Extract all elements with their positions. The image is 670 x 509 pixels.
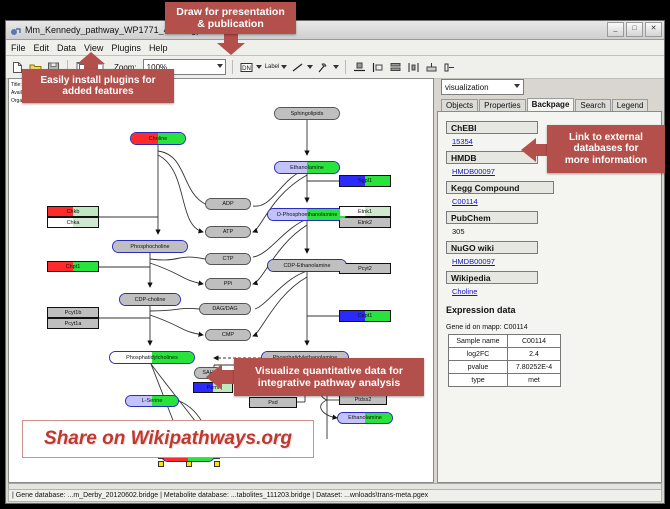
pathway-node-pcyt1b[interactable]: Pcyt1b xyxy=(47,307,99,318)
cell-key: type xyxy=(449,374,508,387)
gene-id-line: Gene id on mapp: C00114 xyxy=(446,324,661,331)
toolbar-separator-2 xyxy=(232,60,233,74)
section-header-wikipedia: Wikipedia xyxy=(446,271,538,284)
pathway-node-cept1[interactable]: Cept1 xyxy=(339,310,391,322)
distribute-icon[interactable] xyxy=(406,60,421,75)
cell-key: log2FC xyxy=(449,348,508,361)
callout-install-plugins: Easily install plugins for added feature… xyxy=(22,69,174,103)
cell-value: 7.80252E-4 xyxy=(508,361,561,374)
callout-visualize-data: Visualize quantitative data for integrat… xyxy=(234,358,424,396)
wikipedia-link[interactable]: Choline xyxy=(452,287,661,296)
selection-handle[interactable] xyxy=(186,461,192,467)
pathway-node-chpt1[interactable]: Chpt1 xyxy=(47,261,99,272)
datanode-icon[interactable]: DN xyxy=(239,60,254,75)
align-left-icon[interactable] xyxy=(370,60,385,75)
pathway-node-chka[interactable]: Chka xyxy=(47,217,99,228)
receptor-icon[interactable] xyxy=(316,60,331,75)
svg-text:DN: DN xyxy=(242,65,251,71)
app-icon xyxy=(10,25,21,36)
status-bar: | Gene database: ...m_Derby_20120602.bri… xyxy=(8,489,662,502)
order-icon[interactable] xyxy=(442,60,457,75)
pathway-node-etnk1[interactable]: Etnk1 xyxy=(339,206,391,217)
node-label: Choline xyxy=(149,136,168,142)
node-label: DAG/DAG xyxy=(212,306,237,312)
visualization-select[interactable]: visualization xyxy=(441,79,524,95)
node-label: CTP xyxy=(223,256,234,262)
minimize-button[interactable]: _ xyxy=(607,22,624,37)
pubchem-value: 305 xyxy=(452,227,661,236)
window-controls: _ □ ✕ xyxy=(607,22,662,37)
pathway-node-ophosphoethanolamine[interactable]: O-Phosphoethanolamine xyxy=(267,208,347,221)
pathway-node-l_serine_left[interactable]: L-Serine xyxy=(125,395,179,407)
tab-search[interactable]: Search xyxy=(575,99,610,111)
cell-key: Sample name xyxy=(449,335,508,348)
label-tool-text: Label xyxy=(265,64,280,70)
table-row: Sample name C00114 xyxy=(449,335,561,348)
callout-external-links: Link to external databases for more info… xyxy=(547,125,665,173)
node-label: PPi xyxy=(224,281,233,287)
kegg-link[interactable]: C00114 xyxy=(452,197,661,206)
chevron-down-icon xyxy=(217,64,223,68)
pathway-node-sphingolipids[interactable]: Sphingolipids xyxy=(274,107,340,120)
chevron-down-icon[interactable] xyxy=(333,65,339,69)
node-label: Ethanolamine xyxy=(290,165,324,171)
pathway-node-cmp[interactable]: CMP xyxy=(205,329,251,341)
node-label: Pcyt1a xyxy=(65,321,82,327)
node-label: Chka xyxy=(67,220,80,226)
pathway-node-chkb[interactable]: Chkb xyxy=(47,206,99,217)
pathway-node-sgpl1[interactable]: Sgpl1 xyxy=(339,175,391,187)
node-label: Cept1 xyxy=(358,313,373,319)
menu-item-help[interactable]: Help xyxy=(149,43,168,53)
menu-item-view[interactable]: View xyxy=(84,43,103,53)
pathway-node-pcyt2[interactable]: Pcyt2 xyxy=(339,263,391,274)
node-label: Etnk1 xyxy=(358,209,372,215)
chevron-down-icon[interactable] xyxy=(307,65,313,69)
cell-key: pvalue xyxy=(449,361,508,374)
callout-link-text: Link to external databases for more info… xyxy=(565,132,647,167)
node-label: Chpt1 xyxy=(66,264,81,270)
cell-value: C00114 xyxy=(508,335,561,348)
node-label: Sphingolipids xyxy=(291,111,324,117)
selection-handle[interactable] xyxy=(214,461,220,467)
node-label: Sgpl1 xyxy=(358,178,372,184)
chevron-down-icon[interactable] xyxy=(281,65,287,69)
callout-plugins-text: Easily install plugins for added feature… xyxy=(40,75,155,98)
node-label: O-Phosphoethanolamine xyxy=(277,212,338,218)
pathway-node-phosphocholine[interactable]: Phosphocholine xyxy=(112,240,188,253)
pathway-node-choline_top[interactable]: Choline xyxy=(130,132,186,145)
datanode-tool[interactable]: DN xyxy=(239,60,262,75)
node-label: CMP xyxy=(222,332,234,338)
expression-table: Sample name C00114 log2FC 2.4 pvalue 7.8… xyxy=(448,334,561,387)
table-row: type met xyxy=(449,374,561,387)
pathway-node-atp[interactable]: ATP xyxy=(205,226,251,238)
pathway-node-cdp_ethanolamine[interactable]: CDP-Ethanolamine xyxy=(267,259,347,272)
tab-properties[interactable]: Properties xyxy=(479,99,525,111)
menu-item-plugins[interactable]: Plugins xyxy=(111,43,141,53)
section-header-kegg: Kegg Compound xyxy=(446,181,554,194)
pathway-node-pcyt1a[interactable]: Pcyt1a xyxy=(47,318,99,329)
node-label: Phosphatidylcholines xyxy=(126,355,178,361)
pathway-node-psd[interactable]: Psd xyxy=(249,397,297,408)
receptor-tool[interactable] xyxy=(316,60,339,75)
node-label: Etnk2 xyxy=(358,220,372,226)
node-label: Psd xyxy=(268,400,277,406)
expression-data-title: Expression data xyxy=(446,305,661,315)
callout-share-wikipathways: Share on Wikipathways.org xyxy=(22,420,314,458)
menu-item-data[interactable]: Data xyxy=(57,43,76,53)
callout-draw-text: Draw for presentation & publication xyxy=(176,6,285,30)
title-bar: Mm_Kennedy_pathway_WP1771_45176.gpml _ □… xyxy=(6,21,664,40)
pathway-node-ethanolamine1[interactable]: Ethanolamine xyxy=(274,161,340,174)
line-tool[interactable] xyxy=(290,60,313,75)
tab-legend[interactable]: Legend xyxy=(612,99,649,111)
close-button[interactable]: ✕ xyxy=(645,22,662,37)
tab-objects[interactable]: Objects xyxy=(441,99,478,111)
section-header-nugowiki: NuGO wiki xyxy=(446,241,538,254)
side-panel-tabs: Objects Properties Backpage Search Legen… xyxy=(437,96,662,112)
node-label: ATP xyxy=(223,229,233,235)
pathway-node-cdp_choline[interactable]: CDP-choline xyxy=(119,293,181,306)
callout-draw-arrow-down xyxy=(216,33,246,60)
node-label: Ethanolamine xyxy=(348,415,382,421)
share-text: Share on Wikipathways.org xyxy=(44,428,292,450)
node-label: Chkb xyxy=(67,209,80,215)
pathway-node-ctp[interactable]: CTP xyxy=(205,253,251,265)
node-label: ADP xyxy=(222,201,233,207)
label-tool[interactable]: Label xyxy=(265,64,288,70)
table-row: log2FC 2.4 xyxy=(449,348,561,361)
stack-icon[interactable] xyxy=(388,60,403,75)
maximize-button[interactable]: □ xyxy=(626,22,643,37)
visualization-row: visualization xyxy=(437,78,662,96)
section-header-pubchem: PubChem xyxy=(446,211,538,224)
node-label: CDP-choline xyxy=(135,297,166,303)
pathway-node-phosphatidylcholines[interactable]: Phosphatidylcholines xyxy=(109,351,195,364)
chevron-down-icon xyxy=(514,84,520,88)
cell-value: 2.4 xyxy=(508,348,561,361)
node-label: Pcyt1b xyxy=(65,310,82,316)
node-label: Ptdss2 xyxy=(355,397,372,403)
node-label: Phosphocholine xyxy=(130,244,169,250)
callout-visualize-text: Visualize quantitative data for integrat… xyxy=(255,365,403,389)
tab-backpage[interactable]: Backpage xyxy=(527,98,575,111)
pathway-node-etnk2[interactable]: Etnk2 xyxy=(339,217,391,228)
toolbar-separator-3 xyxy=(345,60,346,74)
line-icon[interactable] xyxy=(290,60,305,75)
chevron-down-icon[interactable] xyxy=(256,65,262,69)
visualization-value: visualization xyxy=(445,83,489,92)
cell-value: met xyxy=(508,374,561,387)
align-top-icon[interactable] xyxy=(352,60,367,75)
table-row: pvalue 7.80252E-4 xyxy=(449,361,561,374)
pathway-node-ppi[interactable]: PPi xyxy=(205,278,251,290)
pathway-node-dagdag[interactable]: DAG/DAG xyxy=(199,303,251,315)
callout-draw-for-publication: Draw for presentation & publication xyxy=(165,2,296,34)
pathway-node-adp[interactable]: ADP xyxy=(205,198,251,210)
node-label: CDP-Ethanolamine xyxy=(283,263,330,269)
selection-handle[interactable] xyxy=(158,461,164,467)
node-label: L-Serine xyxy=(142,398,163,404)
group-icon[interactable] xyxy=(424,60,439,75)
screenshot-root: Mm_Kennedy_pathway_WP1771_45176.gpml _ □… xyxy=(0,0,670,509)
pathway-node-ethanolamine2[interactable]: Ethanolamine xyxy=(337,412,393,424)
node-label: Pcyt2 xyxy=(358,266,372,272)
nugowiki-link[interactable]: HMDB00097 xyxy=(452,257,661,266)
menu-item-file[interactable]: File xyxy=(11,43,26,53)
menu-item-edit[interactable]: Edit xyxy=(34,43,50,53)
status-area: | Gene database: ...m_Derby_20120602.bri… xyxy=(6,483,664,503)
